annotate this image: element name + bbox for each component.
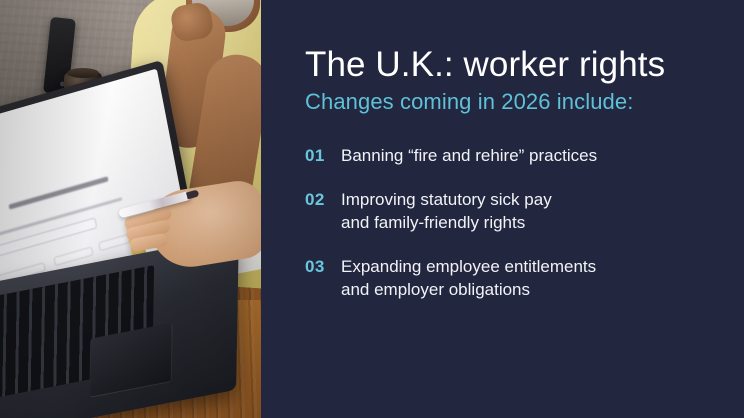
list-item-number: 03 xyxy=(305,255,341,278)
list-item-line: Expanding employee entitlements xyxy=(341,255,596,278)
list-item: 01 Banning “fire and rehire” practices xyxy=(305,144,704,167)
content-panel: The U.K.: worker rights Changes coming i… xyxy=(261,0,744,418)
list-item-text: Banning “fire and rehire” practices xyxy=(341,144,597,167)
list-item-line: Banning “fire and rehire” practices xyxy=(341,144,597,167)
list-item-number: 01 xyxy=(305,144,341,167)
list-item: 02 Improving statutory sick pay and fami… xyxy=(305,188,704,234)
changes-list: 01 Banning “fire and rehire” practices 0… xyxy=(305,144,704,301)
list-item-line: Improving statutory sick pay xyxy=(341,188,552,211)
page-subtitle: Changes coming in 2026 include: xyxy=(305,88,704,116)
list-item-number: 02 xyxy=(305,188,341,211)
photo-office-worker xyxy=(0,0,261,418)
slide: The U.K.: worker rights Changes coming i… xyxy=(0,0,744,418)
screen-form-chip xyxy=(98,234,130,252)
list-item-line: and family-friendly rights xyxy=(341,211,552,234)
page-title: The U.K.: worker rights xyxy=(305,45,704,85)
list-item: 03 Expanding employee entitlements and e… xyxy=(305,255,704,301)
list-item-text: Improving statutory sick pay and family-… xyxy=(341,188,552,234)
list-item-text: Expanding employee entitlements and empl… xyxy=(341,255,596,301)
list-item-line: and employer obligations xyxy=(341,278,596,301)
